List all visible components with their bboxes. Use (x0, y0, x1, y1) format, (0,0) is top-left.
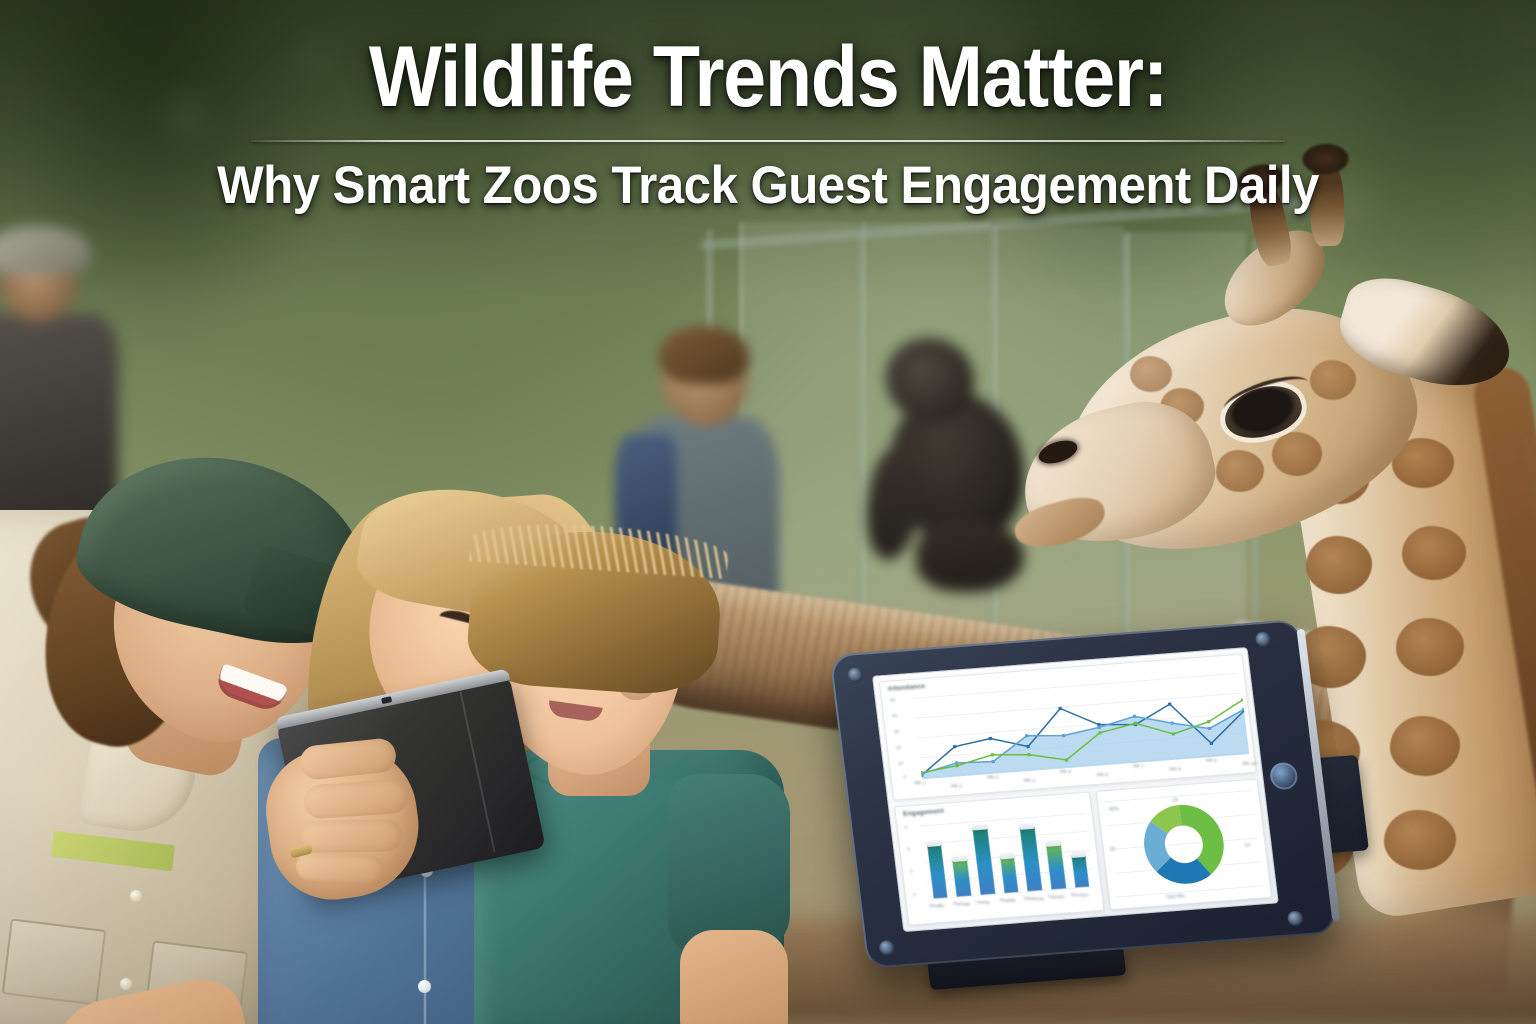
bar (1020, 826, 1043, 892)
bar-y-tick-0: 0 (913, 892, 916, 897)
x-tick-label: Wk 5 (1060, 769, 1072, 775)
keeper-button-1 (130, 890, 142, 902)
y-tick-0: 0 (903, 775, 906, 780)
y-tick-5: 50 (890, 697, 896, 702)
engagement-chart-card[interactable]: Engagement 9 6 3 0 GiraffePrimateAviaryR… (894, 791, 1104, 925)
bar-y-tick-2: 6 (907, 846, 910, 851)
x-tick-label: Wk 9 (1205, 758, 1217, 764)
bar (972, 826, 995, 895)
visit-mix-donut (1130, 796, 1237, 893)
finger-2 (303, 778, 409, 819)
donut-footer-label: Visit Mix (1166, 893, 1185, 900)
x-tick-label: Wk 7 (1132, 763, 1144, 769)
bar-category-label: Savanna (1024, 896, 1044, 903)
bar-y-tick-3: 9 (904, 825, 907, 830)
finger-4 (295, 852, 384, 885)
donut-label-3: 22 (1110, 847, 1116, 853)
bar-category-label: Giraffe (929, 903, 944, 909)
bar (926, 843, 947, 898)
x-tick-label: Wk 8 (1169, 766, 1181, 772)
mother-button-2 (418, 980, 431, 993)
title-block: Wildlife Trends Matter: Why Smart Zoos T… (0, 34, 1536, 214)
donut-label-2: 24 (1172, 798, 1178, 804)
y-tick-2: 20 (896, 745, 902, 750)
x-tick-label: Wk 1 (914, 780, 926, 786)
attendance-chart-card[interactable]: Attendance 50 40 30 20 10 0 Wk 1Wk 2Wk 3… (879, 654, 1257, 801)
y-tick-1: 10 (898, 761, 904, 766)
keeper-button-2 (120, 978, 132, 990)
finger-3 (302, 819, 403, 853)
bar-category-label: Nocturn (1071, 892, 1089, 898)
dashboard-screen[interactable]: Attendance 50 40 30 20 10 0 Wk 1Wk 2Wk 3… (872, 647, 1279, 932)
bar (1071, 854, 1090, 888)
bar (952, 858, 971, 897)
x-tick-label: Wk 4 (1024, 778, 1036, 784)
engagement-bars (920, 813, 1095, 899)
bar-category-label: Reptile (1000, 898, 1016, 904)
bar-category-label: Aviary (976, 899, 990, 905)
bar-value-cap (1071, 851, 1086, 858)
bar-y-tick-1: 3 (910, 868, 913, 873)
bar-value-cap (952, 855, 967, 862)
hero-banner: Attendance 50 40 30 20 10 0 Wk 1Wk 2Wk 3… (0, 0, 1536, 1024)
bar-value-cap (1020, 823, 1035, 830)
x-tick-label: Wk 6 (1097, 772, 1109, 778)
bar (1046, 843, 1066, 890)
engagement-chart-title: Engagement (903, 808, 945, 818)
keeper-pocket-left (2, 918, 107, 1005)
bar (1000, 855, 1019, 893)
bar-value-cap (972, 823, 987, 830)
x-tick-label: Wk 3 (987, 774, 999, 780)
bar-value-cap (926, 840, 941, 847)
bar-category-label: Aquatic (1047, 894, 1064, 900)
x-tick-label: Wk 2 (951, 783, 963, 789)
boy-arm (680, 930, 788, 1024)
page-subtitle: Why Smart Zoos Track Guest Engagement Da… (54, 158, 1482, 214)
boy-sleeve (668, 774, 790, 954)
bar-value-cap (999, 852, 1014, 859)
mounted-tablet-kiosk[interactable]: Attendance 50 40 30 20 10 0 Wk 1Wk 2Wk 3… (829, 619, 1337, 969)
y-tick-4: 40 (892, 713, 898, 718)
page-title: Wildlife Trends Matter: (77, 34, 1459, 120)
attendance-chart-title: Attendance (887, 683, 925, 693)
tablet-case-seam (459, 691, 495, 852)
title-divider (251, 140, 1285, 142)
donut-label-1: 40% (1109, 806, 1120, 813)
donut-label-4: 14 (1244, 842, 1250, 848)
bar-value-cap (1046, 840, 1061, 847)
visit-mix-card[interactable]: 40% 24 22 14 Visit Mix (1096, 779, 1272, 911)
x-tick-label: Wk 10 (1242, 761, 1256, 767)
y-tick-3: 30 (894, 729, 900, 734)
bar-category-label: Primate (953, 901, 970, 907)
